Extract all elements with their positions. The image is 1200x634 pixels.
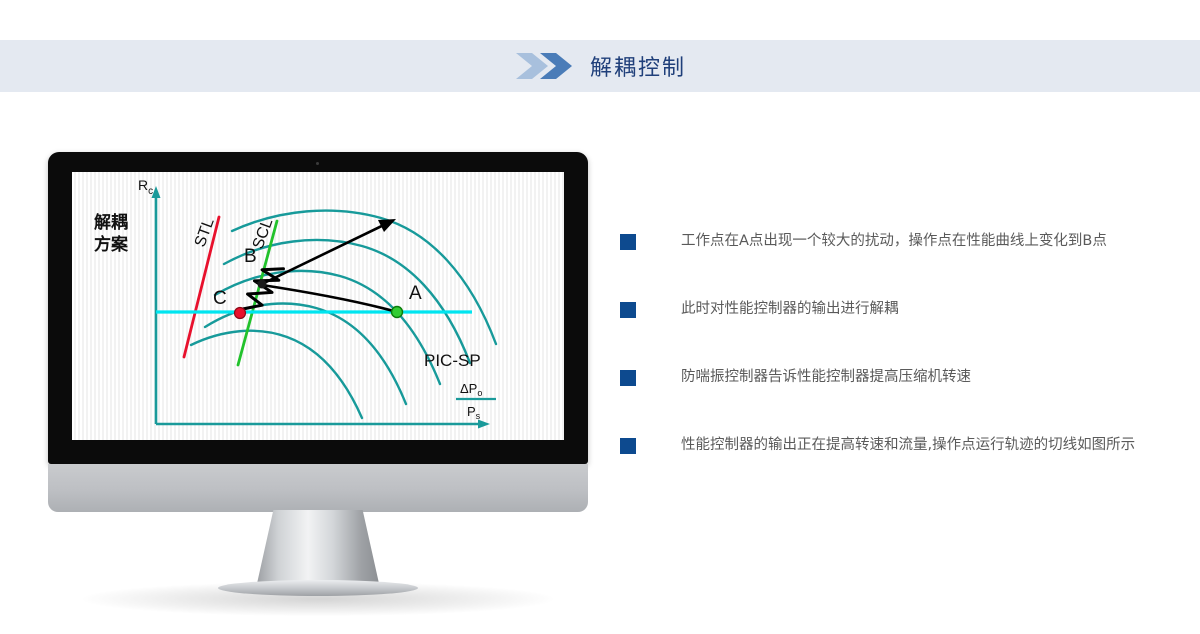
double-chevron-icon [514, 50, 576, 82]
point-c-label: C [213, 288, 227, 309]
screen-plan-label-line2: 方案 [94, 234, 128, 256]
y-axis-label-main: R [138, 177, 148, 193]
screen-plan-label-line1: 解耦 [94, 212, 128, 234]
point-c-marker [235, 308, 246, 319]
list-item: 工作点在A点出现一个较大的扰动，操作点在性能曲线上变化到B点 [620, 232, 1180, 300]
trajectory-curve [262, 285, 397, 312]
bullet-list: 工作点在A点出现一个较大的扰动，操作点在性能曲线上变化到B点 此时对性能控制器的… [620, 232, 1180, 504]
page-header-band: 解耦控制 [0, 40, 1200, 92]
bullet-square-icon [620, 438, 636, 454]
x-axis-label-denominator: P [467, 404, 476, 419]
list-item: 此时对性能控制器的输出进行解耦 [620, 300, 1180, 368]
monitor-mockup: A B C STL SCL PIC-SP Rc ΔPo [48, 152, 588, 522]
point-a-marker [392, 307, 403, 318]
speed-curve-2 [205, 304, 406, 404]
bullet-text: 此时对性能控制器的输出进行解耦 [681, 300, 899, 318]
bullet-square-icon [620, 302, 636, 318]
monitor-bezel: A B C STL SCL PIC-SP Rc ΔPo [48, 152, 588, 464]
point-a-label: A [409, 283, 422, 304]
compressor-map-chart: A B C STL SCL PIC-SP Rc ΔPo [72, 172, 564, 440]
pic-sp-label: PIC-SP [424, 351, 481, 370]
bullet-text: 性能控制器的输出正在提高转速和流量,操作点运行轨迹的切线如图所示 [681, 436, 1135, 454]
webcam-icon [316, 162, 319, 165]
monitor-stand-neck [256, 510, 380, 588]
bullet-square-icon [620, 234, 636, 250]
monitor-stand-base [218, 580, 418, 596]
header-inner: 解耦控制 [514, 50, 686, 82]
point-b-label: B [244, 246, 257, 267]
x-axis-label: ΔPo Ps [456, 381, 496, 421]
monitor-chin [48, 464, 588, 512]
page-title: 解耦控制 [590, 50, 686, 82]
screen-plan-label: 解耦 方案 [94, 212, 128, 256]
oscillation-squiggle [238, 263, 283, 315]
monitor-screen: A B C STL SCL PIC-SP Rc ΔPo [72, 172, 564, 440]
list-item: 性能控制器的输出正在提高转速和流量,操作点运行轨迹的切线如图所示 [620, 436, 1180, 504]
y-axis-label: Rc [138, 177, 153, 197]
bullet-square-icon [620, 370, 636, 386]
speed-curve-1 [191, 331, 362, 418]
tangent-arrow [262, 222, 390, 284]
list-item: 防喘振控制器告诉性能控制器提高压缩机转速 [620, 368, 1180, 436]
speed-curve-4 [224, 240, 470, 363]
bullet-text: 工作点在A点出现一个较大的扰动，操作点在性能曲线上变化到B点 [681, 232, 1107, 250]
x-axis-label-denominator-sub: s [476, 411, 481, 421]
svg-text:Ps: Ps [467, 404, 481, 421]
y-axis-label-sub: c [148, 186, 153, 197]
point-b-marker [258, 280, 267, 289]
svg-text:ΔPo: ΔPo [460, 381, 482, 398]
bullet-text: 防喘振控制器告诉性能控制器提高压缩机转速 [681, 368, 971, 386]
x-axis-label-numerator-sub: o [477, 388, 482, 398]
x-axis-label-numerator: ΔP [460, 381, 477, 396]
